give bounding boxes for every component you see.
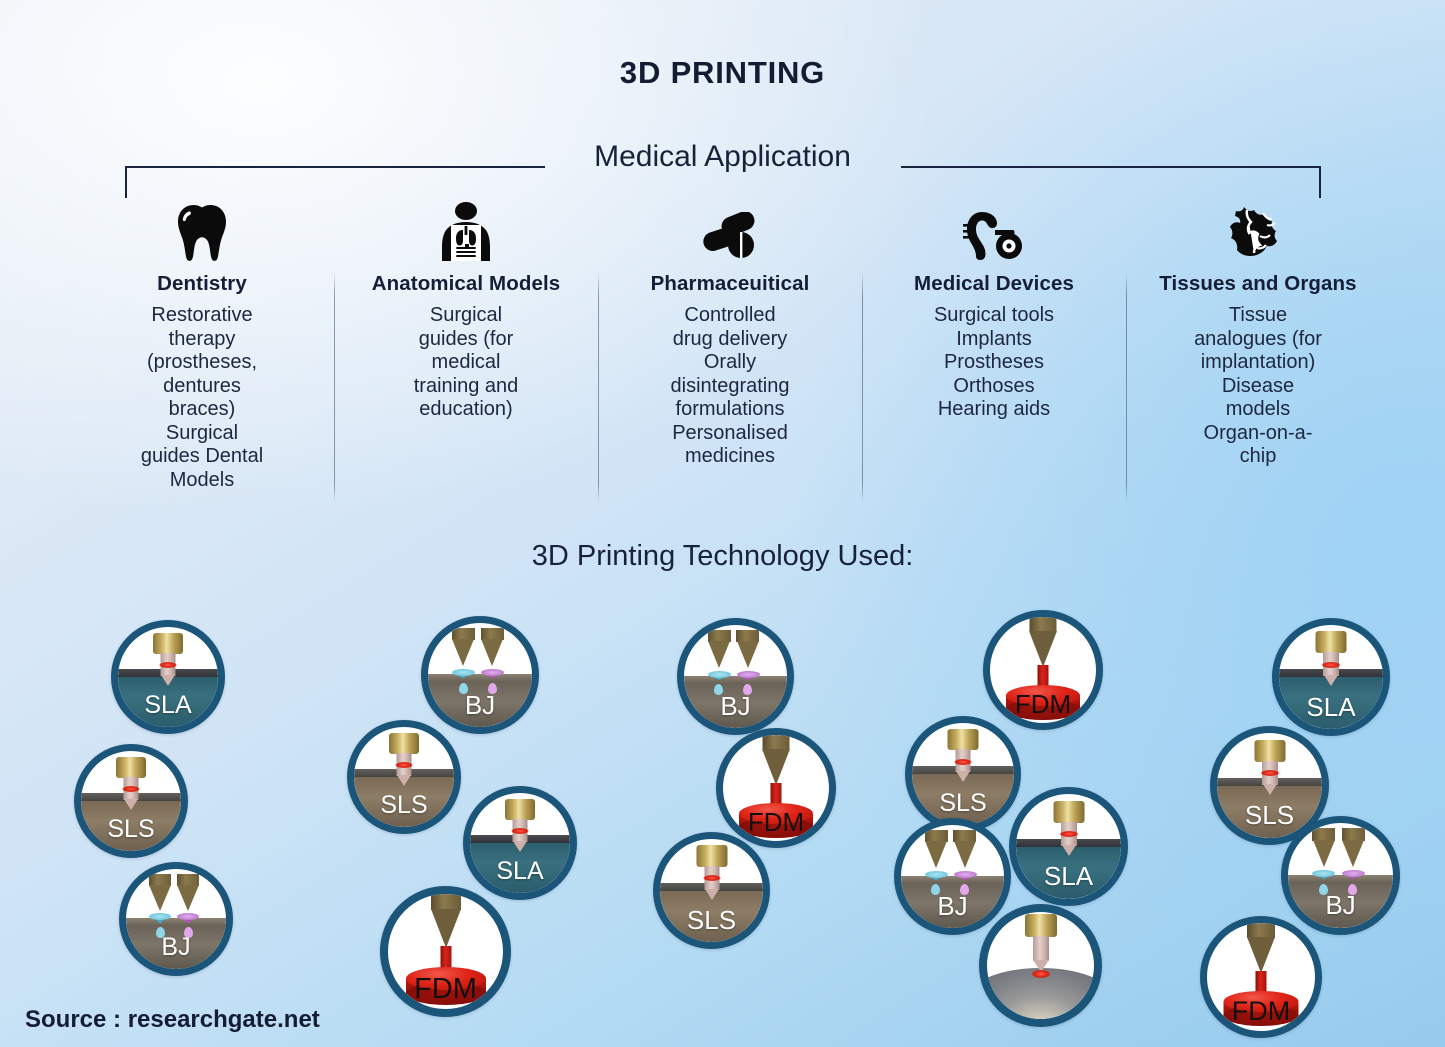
pills-icon [604,200,856,262]
binder-nozzle [1313,840,1335,867]
powder-bed [1288,882,1393,928]
bracket-line-left [125,166,545,168]
nozzle-housing [1316,631,1347,653]
application-column-tissues-and-organs: Tissues and OrgansTissue analogues (for … [1126,200,1390,510]
infographic-canvas: 3D PRINTING Medical Application Dentistr… [0,0,1445,1047]
extruder-housing [1247,923,1275,938]
technology-circle-illustration [1217,733,1322,838]
medical-application-bracket [125,166,1321,198]
printed-part-top [1224,991,1299,1012]
tooth-icon [76,200,328,262]
technology-circle-sla[interactable]: SLA [1272,618,1390,736]
bracket-line-right [901,166,1321,168]
nozzle-tip [1263,784,1277,795]
binder-deposit [1342,870,1365,877]
technology-circle-bj[interactable]: BJ [1281,816,1400,935]
application-body-text: Tissue analogues (for implantation) Dise… [1132,304,1384,469]
application-body-text: Surgical tools Implants Prostheses Ortho… [868,304,1120,422]
binder-droplet [1319,884,1328,895]
extruder-nozzle [1247,937,1275,973]
application-body-text: Restorative therapy (prostheses, denture… [76,304,328,492]
source-credit: Source : researchgate.net [25,1006,320,1034]
heart-icon [1132,200,1384,262]
technology-circles-area: SLA SLSBJBJ SLS SLAFDMBJFDM SLSFDM SLS S… [0,596,1445,1047]
bracket-tick-left [125,166,127,198]
application-heading: Medical Devices [868,272,1120,296]
application-body-text: Controlled drug delivery Orally disinteg… [604,304,856,469]
application-heading: Pharmaceuitical [604,272,856,296]
application-heading: Anatomical Models [340,272,592,296]
technology-circle-illustration [1207,923,1315,1031]
laser-spot [1322,662,1340,668]
technology-circle-illustration [1288,823,1393,928]
nozzle-housing [1254,740,1285,762]
binder-nozzle [1342,840,1364,867]
application-column-dentistry: DentistryRestorative therapy (prostheses… [70,200,334,510]
technology-circle-fdm[interactable]: FDM [1200,916,1322,1038]
application-columns: DentistryRestorative therapy (prostheses… [70,200,1390,510]
hearing-aid-icon [868,200,1120,262]
nozzle-tip [1324,675,1338,686]
application-column-pharmaceuitical: PharmaceuiticalControlled drug delivery … [598,200,862,510]
powder-bed-surface [1288,875,1393,882]
application-column-medical-devices: Medical DevicesSurgical tools Implants P… [862,200,1126,510]
laser-spot [1261,770,1279,776]
application-heading: Dentistry [76,272,328,296]
application-column-anatomical-models: Anatomical ModelsSurgical guides (for me… [334,200,598,510]
bracket-tick-right [1319,166,1321,198]
application-heading: Tissues and Organs [1132,272,1384,296]
technology-group-tissues-and-organs: SLA SLSBJFDM [0,596,1445,1047]
page-title: 3D PRINTING [0,55,1445,91]
technology-circle-illustration [1279,625,1383,729]
application-body-text: Surgical guides (for medical training an… [340,304,592,422]
human-torso-organs-icon [340,200,592,262]
technology-section-title: 3D Printing Technology Used: [0,540,1445,573]
